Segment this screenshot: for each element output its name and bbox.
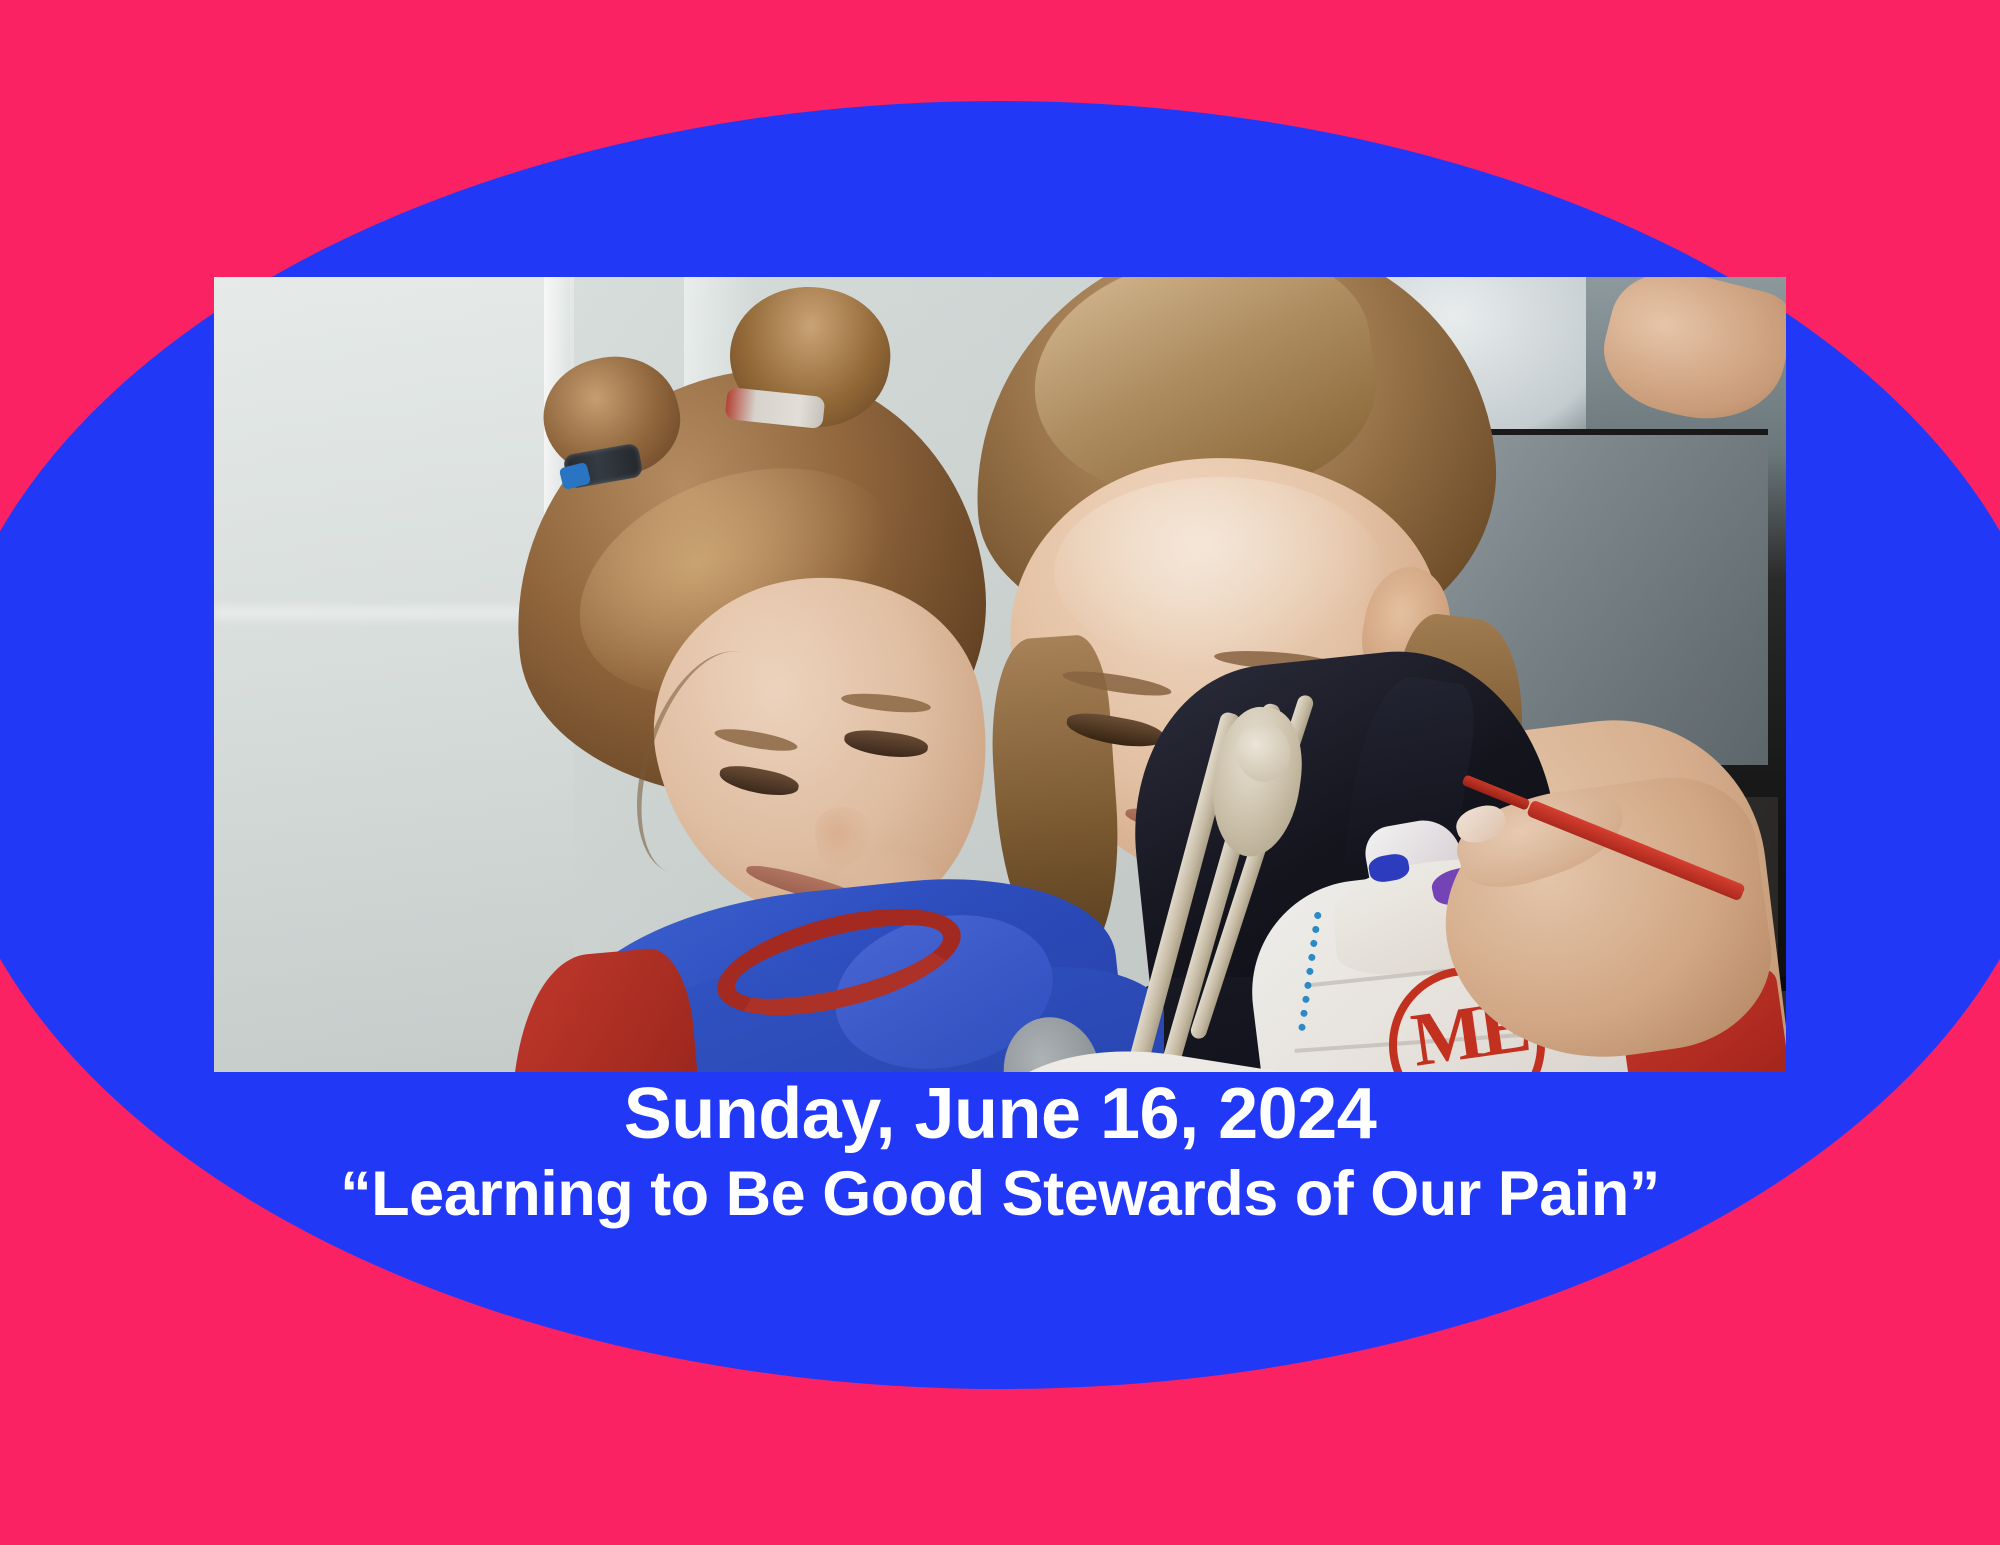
event-photo: ME NADA PI FAT AK TU KM NL AH X C V bbox=[214, 277, 1786, 1072]
cast-graffiti-cyan-scribble bbox=[1298, 912, 1401, 1043]
photo-wall-highlight bbox=[214, 277, 574, 1072]
caption-block: Sunday, June 16, 2024 “Learning to Be Go… bbox=[0, 1078, 2000, 1230]
right-girl-forehead-highlight bbox=[1054, 477, 1384, 667]
poster-canvas: ME NADA PI FAT AK TU KM NL AH X C V Sund… bbox=[0, 0, 2000, 1545]
event-title: “Learning to Be Good Stewards of Our Pai… bbox=[0, 1159, 2000, 1230]
event-date: Sunday, June 16, 2024 bbox=[0, 1078, 2000, 1151]
